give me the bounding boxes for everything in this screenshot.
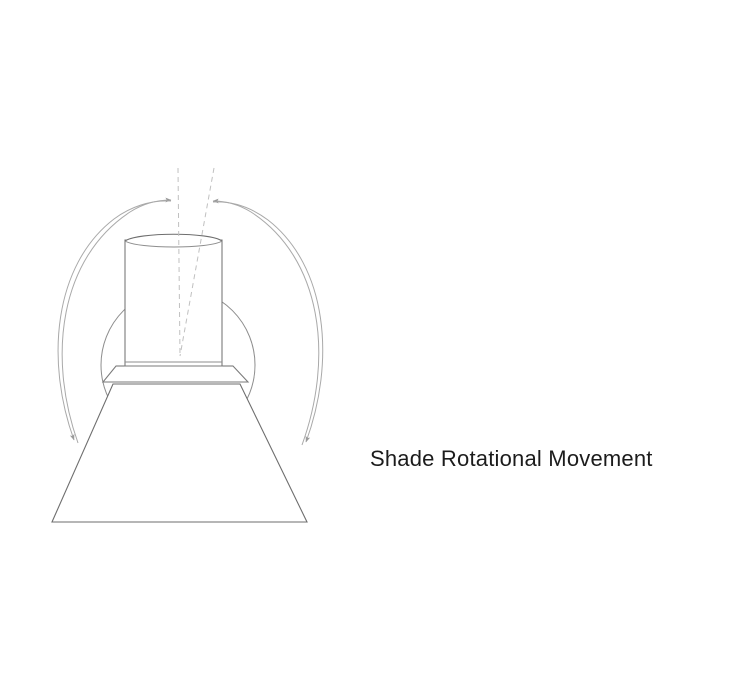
cylinder-body xyxy=(125,234,222,366)
cylinder-side-walls xyxy=(125,240,222,366)
canvas-background xyxy=(0,0,744,678)
flange xyxy=(103,366,248,382)
diagram-root: Shade Rotational Movement xyxy=(0,0,744,678)
shade-rotational-movement-diagram xyxy=(0,0,744,678)
flange-outline xyxy=(103,366,248,382)
